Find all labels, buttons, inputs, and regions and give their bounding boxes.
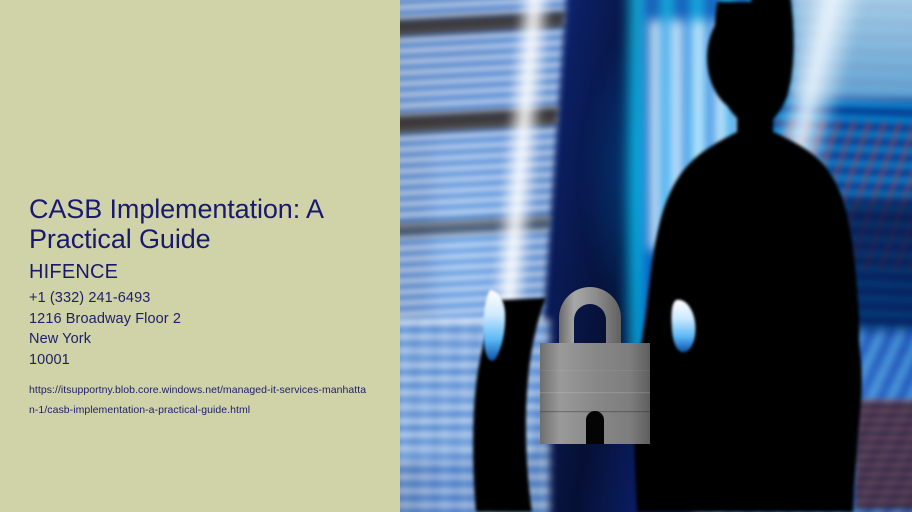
background-gap-left xyxy=(483,290,505,361)
padlock-shackle xyxy=(559,287,621,352)
padlock-icon xyxy=(530,280,660,450)
page-title: CASB Implementation: A Practical Guide xyxy=(29,194,391,254)
text-block: CASB Implementation: A Practical Guide H… xyxy=(29,194,394,420)
address-line-1: 1216 Broadway Floor 2 xyxy=(29,309,394,329)
address-postal-code: 10001 xyxy=(29,350,394,370)
background-gap-right xyxy=(671,300,695,353)
address-city: New York xyxy=(29,329,394,349)
padlock-keyhole xyxy=(586,411,604,444)
text-panel: CASB Implementation: A Practical Guide H… xyxy=(0,0,400,512)
padlock-seam-3 xyxy=(540,370,650,371)
hero-photo xyxy=(400,0,912,512)
source-url-link[interactable]: https://itsupportny.blob.core.windows.ne… xyxy=(29,380,369,420)
brand-name: HIFENCE xyxy=(29,261,394,284)
slide-canvas: CASB Implementation: A Practical Guide H… xyxy=(0,0,912,512)
padlock-seam-1 xyxy=(540,392,650,393)
phone-number: +1 (332) 241-6493 xyxy=(29,288,394,308)
